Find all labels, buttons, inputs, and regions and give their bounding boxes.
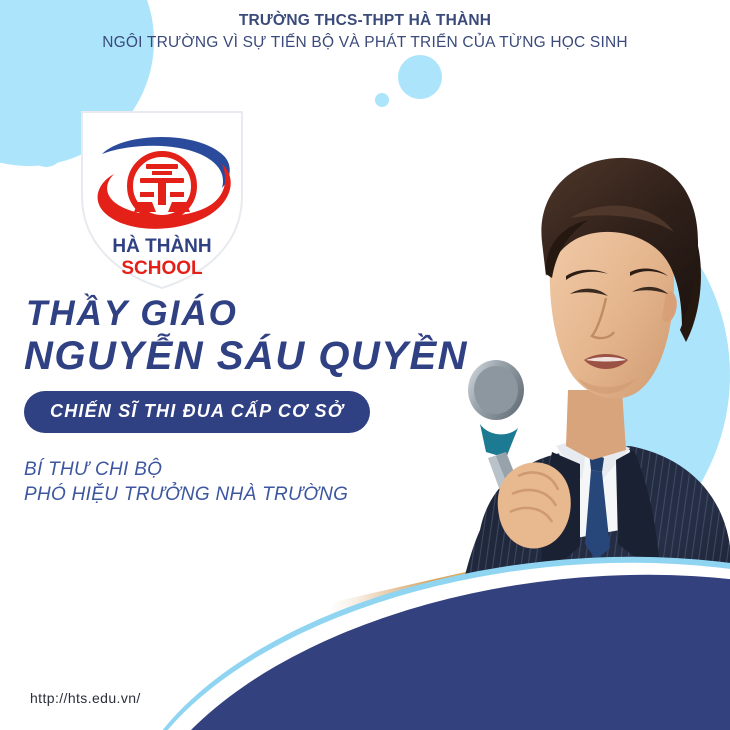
logo-name-text: HÀ THÀNH xyxy=(112,235,211,257)
poster-canvas: TRƯỜNG THCS-THPT HÀ THÀNH NGÔI TRƯỜNG VÌ… xyxy=(0,0,730,730)
award-badge: CHIẾN SĨ THI ĐUA CẤP CƠ SỞ xyxy=(24,391,370,433)
headline-block: THẦY GIÁO NGUYỄN SÁU QUYỀN CHIẾN SĨ THI … xyxy=(24,296,494,508)
website-url[interactable]: http://hts.edu.vn/ xyxy=(30,690,141,706)
role-line-1: BÍ THƯ CHI BỘ xyxy=(24,457,494,483)
role-list: BÍ THƯ CHI BỘ PHÓ HIỆU TRƯỞNG NHÀ TRƯỜNG xyxy=(24,457,494,508)
headline-title-line2: NGUYỄN SÁU QUYỀN xyxy=(24,335,494,377)
headline-title-line1: THẦY GIÁO xyxy=(26,296,494,333)
logo-school-text: SCHOOL xyxy=(121,258,203,279)
decorative-circle-small-left xyxy=(28,131,64,167)
school-slogan: NGÔI TRƯỜNG VÌ SỰ TIẾN BỘ VÀ PHÁT TRIỂN … xyxy=(0,32,730,54)
school-name: TRƯỜNG THCS-THPT HÀ THÀNH xyxy=(0,10,730,32)
school-logo-shield: HÀ THÀNH SCHOOL xyxy=(72,104,252,294)
school-logo: HÀ THÀNH SCHOOL xyxy=(72,104,252,294)
role-line-2: PHÓ HIỆU TRƯỞNG NHÀ TRƯỜNG xyxy=(24,482,494,508)
school-strapline: TRƯỜNG THCS-THPT HÀ THÀNH NGÔI TRƯỜNG VÌ… xyxy=(0,10,730,55)
